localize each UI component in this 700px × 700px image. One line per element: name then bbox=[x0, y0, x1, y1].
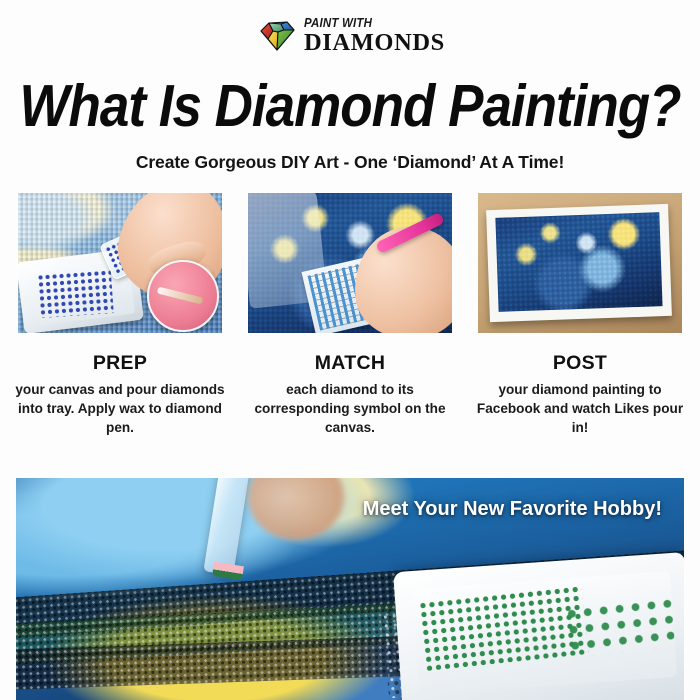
post-bead-texture bbox=[495, 212, 662, 312]
step-post: POST your diamond painting to Facebook a… bbox=[475, 352, 685, 437]
banner-tray-inner bbox=[412, 571, 677, 695]
step-match-title: MATCH bbox=[245, 352, 455, 375]
photo-prep bbox=[18, 193, 222, 333]
step-post-body: your diamond painting to Facebook and wa… bbox=[475, 381, 685, 437]
step-prep: PREP your canvas and pour diamonds into … bbox=[15, 352, 225, 437]
brand-line-diamonds: DIAMONDS bbox=[304, 31, 445, 55]
photo-prep-image bbox=[18, 193, 222, 333]
banner-green-diamonds bbox=[418, 584, 588, 671]
page-subtitle: Create Gorgeous DIY Art - One ‘Diamond’ … bbox=[0, 152, 700, 173]
step-prep-body: your canvas and pour diamonds into tray.… bbox=[15, 381, 225, 437]
prep-wax-inset bbox=[147, 260, 219, 332]
banner-diamond-tray bbox=[393, 552, 684, 700]
page-title: What Is Diamond Painting? bbox=[0, 72, 700, 140]
photo-match-image bbox=[248, 193, 452, 333]
photo-post-image bbox=[478, 193, 682, 333]
post-starry-night-art bbox=[495, 212, 662, 312]
brand-logo: PAINT WITH DIAMONDS bbox=[0, 10, 700, 62]
step-match-body: each diamond to its corresponding symbol… bbox=[245, 381, 455, 437]
step-prep-title: PREP bbox=[15, 352, 225, 375]
brand-wordmark: PAINT WITH DIAMONDS bbox=[304, 17, 442, 56]
infographic-page: PAINT WITH DIAMONDS What Is Diamond Pain… bbox=[0, 0, 700, 700]
rainbow-diamond-icon bbox=[257, 19, 297, 53]
post-finished-painting bbox=[486, 204, 672, 322]
photo-post bbox=[478, 193, 682, 333]
step-match: MATCH each diamond to its corresponding … bbox=[245, 352, 455, 437]
prep-diamond-pen bbox=[157, 287, 203, 305]
step-post-title: POST bbox=[475, 352, 685, 375]
bottom-banner: Meet Your New Favorite Hobby! bbox=[16, 478, 684, 700]
prep-blue-diamonds bbox=[37, 269, 114, 318]
photo-match bbox=[248, 193, 452, 333]
brand-line-paint-with: PAINT WITH bbox=[304, 17, 372, 30]
banner-headline: Meet Your New Favorite Hobby! bbox=[363, 498, 662, 521]
